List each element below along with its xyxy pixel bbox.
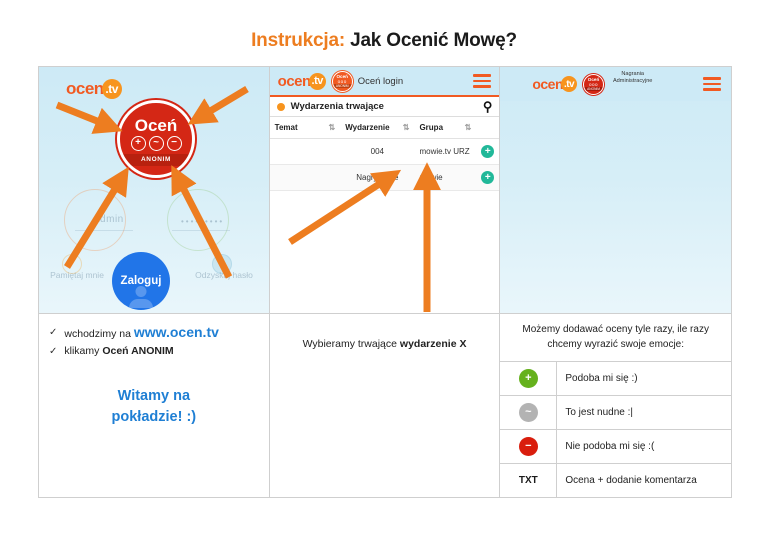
page-title-highlight: Instrukcja: <box>251 30 345 51</box>
list-item: ✓ klikamy Oceń ANONIM <box>49 343 259 360</box>
welcome-line-2: pokładzie! :) <box>49 407 259 428</box>
logo-dot: .tv <box>561 76 577 92</box>
instruction-board: ocen .tv Oceń + ~ − ANONIM admin •••••••… <box>38 66 732 498</box>
legend-row-txt: TXT Ocena + dodanie komentarza <box>500 464 731 497</box>
logo-word: ocen <box>532 76 563 92</box>
caption-step-1: ✓ wchodzimy na www.ocen.tv ✓ klikamy Oce… <box>39 314 269 497</box>
page-title: Instrukcja: Jak Ocenić Mowę? <box>0 30 768 52</box>
legend-row-neutral: ~ To jest nudne :| <box>500 396 731 430</box>
legend-row-dislike: − Nie podoba mi się :( <box>500 430 731 464</box>
caption-1-line-2: klikamy Oceń ANONIM <box>64 343 173 360</box>
mini-badge-line-3: ANONIM <box>584 87 603 91</box>
ocen-anonim-badge-icon[interactable]: Oceń ooo ANONIM <box>583 74 604 95</box>
welcome-message: Witamy na pokładzie! :) <box>49 386 259 428</box>
legend-label-txt: Ocena + dodanie komentarza <box>557 466 704 495</box>
legend-icon-cell: TXT <box>500 464 557 497</box>
legend-label-neutral: To jest nudne :| <box>557 398 641 427</box>
caption-1-list: ✓ wchodzimy na www.ocen.tv ✓ klikamy Oce… <box>49 324 259 360</box>
caption-2-bold: wydarzenie X <box>400 338 467 350</box>
legend-icon-cell: ~ <box>500 396 557 429</box>
txt-icon: TXT <box>519 475 538 486</box>
login-button-label: Zaloguj <box>121 275 162 287</box>
step-column-2: ocen .tv Oceń ooo ANONIM Oceń login Wyda… <box>270 67 501 497</box>
page-title-rest: Jak Ocenić Mowę? <box>350 30 517 51</box>
minus-icon: − <box>519 437 538 456</box>
legend-heading: Możemy dodawać oceny tyle razy, ile razy… <box>500 314 731 362</box>
legend-heading-line-2: chcemy wyrazić swoje emocje: <box>508 337 723 352</box>
ocen-tv-link[interactable]: www.ocen.tv <box>134 324 219 340</box>
app-header-recordings: Nagrania Administracyjne ocen .tv Oceń o… <box>500 67 731 101</box>
plus-icon: + <box>519 369 538 388</box>
caption-2-text: Wybieramy trwające wydarzenie X <box>280 324 490 350</box>
caption-step-2: Wybieramy trwające wydarzenie X <box>270 314 500 497</box>
step-column-3: Nagrania Administracyjne ocen .tv Oceń o… <box>500 67 731 497</box>
caption-1-line-1: wchodzimy na www.ocen.tv <box>64 324 219 343</box>
legend-heading-line-1: Możemy dodawać oceny tyle razy, ile razy <box>508 322 723 337</box>
caption-2-pre: Wybieramy trwające <box>303 338 400 350</box>
caption-1-line-1-pre: wchodzimy na <box>64 328 133 340</box>
step-column-1: ocen .tv Oceń + ~ − ANONIM admin •••••••… <box>39 67 270 497</box>
tilde-icon: ~ <box>519 403 538 422</box>
check-icon: ✓ <box>49 343 57 360</box>
legend-row-like: + Podoba mi się :) <box>500 362 731 396</box>
caption-1-line-2-bold: Oceń ANONIM <box>102 345 173 357</box>
legend-label-dislike: Nie podoba mi się :( <box>557 432 662 461</box>
list-item: ✓ wchodzimy na www.ocen.tv <box>49 324 259 343</box>
legend-icon-cell: − <box>500 430 557 463</box>
hamburger-menu-icon[interactable] <box>703 77 721 90</box>
check-icon: ✓ <box>49 324 57 341</box>
caption-1-line-2-pre: klikamy <box>64 345 102 357</box>
caption-step-3: Możemy dodawać oceny tyle razy, ile razy… <box>500 314 731 497</box>
phone-screen-events: ocen .tv Oceń ooo ANONIM Oceń login Wyda… <box>270 67 500 314</box>
legend-icon-cell: + <box>500 362 557 395</box>
phone-screen-login: ocen .tv Oceń + ~ − ANONIM admin •••••••… <box>39 67 269 314</box>
welcome-line-1: Witamy na <box>49 386 259 407</box>
legend-label-like: Podoba mi się :) <box>557 364 645 393</box>
ocen-tv-logo: ocen .tv <box>532 76 577 92</box>
phone-screen-ratings: Nagrania Administracyjne ocen .tv Oceń o… <box>500 67 731 314</box>
annotation-arrows-2 <box>270 67 500 313</box>
